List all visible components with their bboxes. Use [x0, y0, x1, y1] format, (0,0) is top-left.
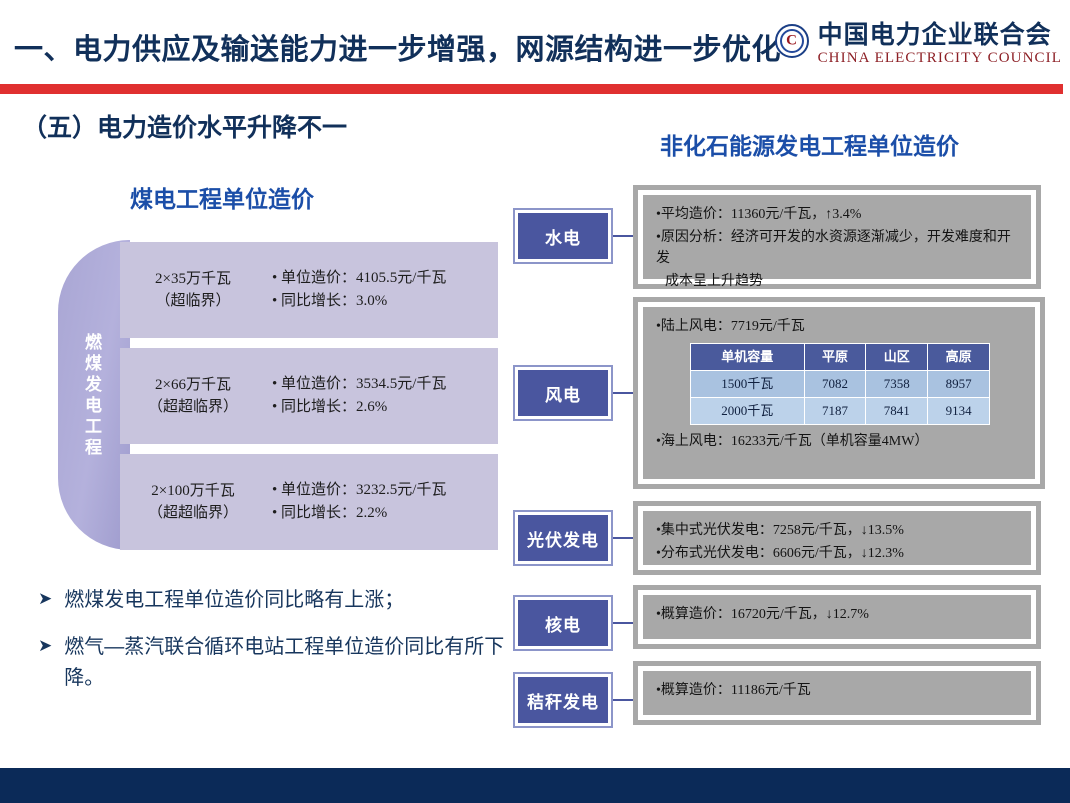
coal-row-capacity: 2×100万千瓦 （超超临界） — [120, 480, 266, 525]
coal-pill-label: 燃煤发电工程 — [84, 332, 104, 458]
page-title: 一、电力供应及输送能力进一步增强，网源结构进一步优化 — [14, 26, 781, 68]
coal-row: 2×35万千瓦 （超临界） 单位造价：4105.5元/千瓦 同比增长：3.0% — [120, 242, 498, 338]
node-nuclear-label: 核电 — [545, 611, 581, 636]
coal-capacity-type: （超超临界） — [120, 502, 266, 525]
list-item: ➤ 燃煤发电工程单位造价同比略有上涨； — [38, 585, 508, 616]
panel-wind: 陆上风电：7719元/千瓦 单机容量 平原 山区 高原 1500千瓦 — [633, 297, 1045, 489]
logo-name-en: CHINA ELECTRICITY COUNCIL — [818, 50, 1062, 67]
hydro-cause-analysis-cont: 成本呈上升趋势 — [656, 271, 1018, 293]
panel-hydro: 平均造价：11360元/千瓦，↑3.4% 原因分析：经济可开发的水资源逐渐减少，… — [633, 185, 1041, 289]
nonfossil-flow-diagram: 水电 风电 光伏发电 核电 秸秆发电 平均造价：11360元/千瓦，↑3.4% … — [505, 185, 1065, 735]
node-wind[interactable]: 风电 — [513, 365, 613, 421]
nonfossil-chart-title: 非化石能源发电工程单位造价 — [660, 127, 959, 161]
summary-bullets: ➤ 燃煤发电工程单位造价同比略有上涨； ➤ 燃气—蒸汽联合循环电站工程单位造价同… — [38, 585, 508, 710]
header-red-divider — [0, 84, 1063, 94]
coal-unit-cost: 单位造价：4105.5元/千瓦 — [272, 267, 498, 290]
coal-yoy-growth: 同比增长：2.6% — [272, 396, 498, 419]
node-straw-label: 秸秆发电 — [527, 688, 599, 713]
pv-centralized-cost: 集中式光伏发电：7258元/千瓦，↓13.5% — [656, 520, 1018, 542]
cell-mountain: 7358 — [866, 370, 928, 397]
node-wind-label: 风电 — [545, 381, 581, 406]
col-plain: 平原 — [804, 343, 866, 370]
coal-row-metrics: 单位造价：3534.5元/千瓦 同比增长：2.6% — [266, 373, 498, 420]
cell-plateau: 8957 — [928, 370, 990, 397]
coal-row: 2×100万千瓦 （超超临界） 单位造价：3232.5元/千瓦 同比增长：2.2… — [120, 454, 498, 550]
coal-chart-title: 煤电工程单位造价 — [130, 180, 314, 214]
logo-name-cn: 中国电力企业联合会 — [818, 22, 1062, 48]
node-nuclear[interactable]: 核电 — [513, 595, 613, 651]
bullet-text: 燃气—蒸汽联合循环电站工程单位造价同比有所下降。 — [64, 632, 508, 694]
pv-distributed-cost: 分布式光伏发电：6606元/千瓦，↓12.3% — [656, 543, 1018, 565]
list-item: ➤ 燃气—蒸汽联合循环电站工程单位造价同比有所下降。 — [38, 632, 508, 694]
table-row: 2000千瓦 7187 7841 9134 — [691, 397, 990, 424]
section-title: （五）电力造价水平升降不一 — [22, 108, 347, 144]
panel-nuclear: 概算造价：16720元/千瓦，↓12.7% — [633, 585, 1041, 649]
panel-pv-body: 集中式光伏发电：7258元/千瓦，↓13.5% 分布式光伏发电：6606元/千瓦… — [638, 506, 1036, 570]
panel-hydro-body: 平均造价：11360元/千瓦，↑3.4% 原因分析：经济可开发的水资源逐渐减少，… — [638, 190, 1036, 284]
hydro-cause-analysis: 原因分析：经济可开发的水资源逐渐减少，开发难度和开发 — [656, 227, 1018, 270]
footer-bar — [0, 768, 1070, 803]
wind-offshore-cost: 海上风电：16233元/千瓦（单机容量4MW） — [656, 431, 1022, 453]
arrow-bullet-icon: ➤ — [38, 632, 52, 661]
connector-hydro — [613, 235, 635, 237]
coal-rows: 2×35万千瓦 （超临界） 单位造价：4105.5元/千瓦 同比增长：3.0% … — [120, 240, 498, 550]
cell-plain: 7082 — [804, 370, 866, 397]
cell-capacity: 1500千瓦 — [691, 370, 805, 397]
connector-pv — [613, 537, 635, 539]
panel-straw-body: 概算造价：11186元/千瓦 — [638, 666, 1036, 720]
coal-unit-cost: 单位造价：3232.5元/千瓦 — [272, 479, 498, 502]
panel-straw: 概算造价：11186元/千瓦 — [633, 661, 1041, 725]
arrow-bullet-icon: ➤ — [38, 585, 52, 614]
node-hydro-label: 水电 — [545, 224, 581, 249]
node-pv-label: 光伏发电 — [527, 526, 599, 551]
col-mountain: 山区 — [866, 343, 928, 370]
connector-straw — [613, 699, 635, 701]
slide-root: 一、电力供应及输送能力进一步增强，网源结构进一步优化 中国电力企业联合会 CHI… — [0, 0, 1070, 803]
coal-row-metrics: 单位造价：3232.5元/千瓦 同比增长：2.2% — [266, 479, 498, 526]
coal-unit-cost: 单位造价：3534.5元/千瓦 — [272, 373, 498, 396]
coal-diagram: 燃煤发电工程 2×35万千瓦 （超临界） 单位造价：4105.5元/千瓦 同比增… — [58, 240, 498, 550]
cec-logo: 中国电力企业联合会 CHINA ELECTRICITY COUNCIL — [775, 22, 1062, 67]
col-capacity: 单机容量 — [691, 343, 805, 370]
cell-capacity: 2000千瓦 — [691, 397, 805, 424]
cell-plain: 7187 — [804, 397, 866, 424]
coal-capacity-value: 2×66万千瓦 — [120, 374, 266, 397]
coal-yoy-growth: 同比增长：3.0% — [272, 290, 498, 313]
table-row: 1500千瓦 7082 7358 8957 — [691, 370, 990, 397]
coal-capacity-value: 2×35万千瓦 — [120, 268, 266, 291]
connector-wind — [613, 392, 635, 394]
node-hydro[interactable]: 水电 — [513, 208, 613, 264]
wind-cost-table: 单机容量 平原 山区 高原 1500千瓦 7082 7358 8957 — [690, 343, 990, 425]
cell-plateau: 9134 — [928, 397, 990, 424]
nuclear-estimate-cost: 概算造价：16720元/千瓦，↓12.7% — [656, 604, 1018, 626]
coal-yoy-growth: 同比增长：2.2% — [272, 502, 498, 525]
coal-row-capacity: 2×66万千瓦 （超超临界） — [120, 374, 266, 419]
wind-onshore-cost: 陆上风电：7719元/千瓦 — [656, 316, 1022, 338]
coal-row: 2×66万千瓦 （超超临界） 单位造价：3534.5元/千瓦 同比增长：2.6% — [120, 348, 498, 444]
panel-nuclear-body: 概算造价：16720元/千瓦，↓12.7% — [638, 590, 1036, 644]
coal-capacity-type: （超临界） — [120, 290, 266, 313]
coal-capacity-value: 2×100万千瓦 — [120, 480, 266, 503]
panel-wind-body: 陆上风电：7719元/千瓦 单机容量 平原 山区 高原 1500千瓦 — [638, 302, 1040, 484]
bullet-text: 燃煤发电工程单位造价同比略有上涨； — [64, 585, 404, 616]
node-pv[interactable]: 光伏发电 — [513, 510, 613, 566]
hydro-avg-cost: 平均造价：11360元/千瓦，↑3.4% — [656, 204, 1018, 226]
cell-mountain: 7841 — [866, 397, 928, 424]
col-plateau: 高原 — [928, 343, 990, 370]
panel-pv: 集中式光伏发电：7258元/千瓦，↓13.5% 分布式光伏发电：6606元/千瓦… — [633, 501, 1041, 575]
coal-capacity-type: （超超临界） — [120, 396, 266, 419]
coal-row-metrics: 单位造价：4105.5元/千瓦 同比增长：3.0% — [266, 267, 498, 314]
coal-row-capacity: 2×35万千瓦 （超临界） — [120, 268, 266, 313]
straw-estimate-cost: 概算造价：11186元/千瓦 — [656, 680, 1018, 702]
logo-text: 中国电力企业联合会 CHINA ELECTRICITY COUNCIL — [818, 22, 1062, 67]
connector-nuclear — [613, 622, 635, 624]
table-header-row: 单机容量 平原 山区 高原 — [691, 343, 990, 370]
node-straw[interactable]: 秸秆发电 — [513, 672, 613, 728]
cec-emblem-icon — [775, 24, 809, 58]
